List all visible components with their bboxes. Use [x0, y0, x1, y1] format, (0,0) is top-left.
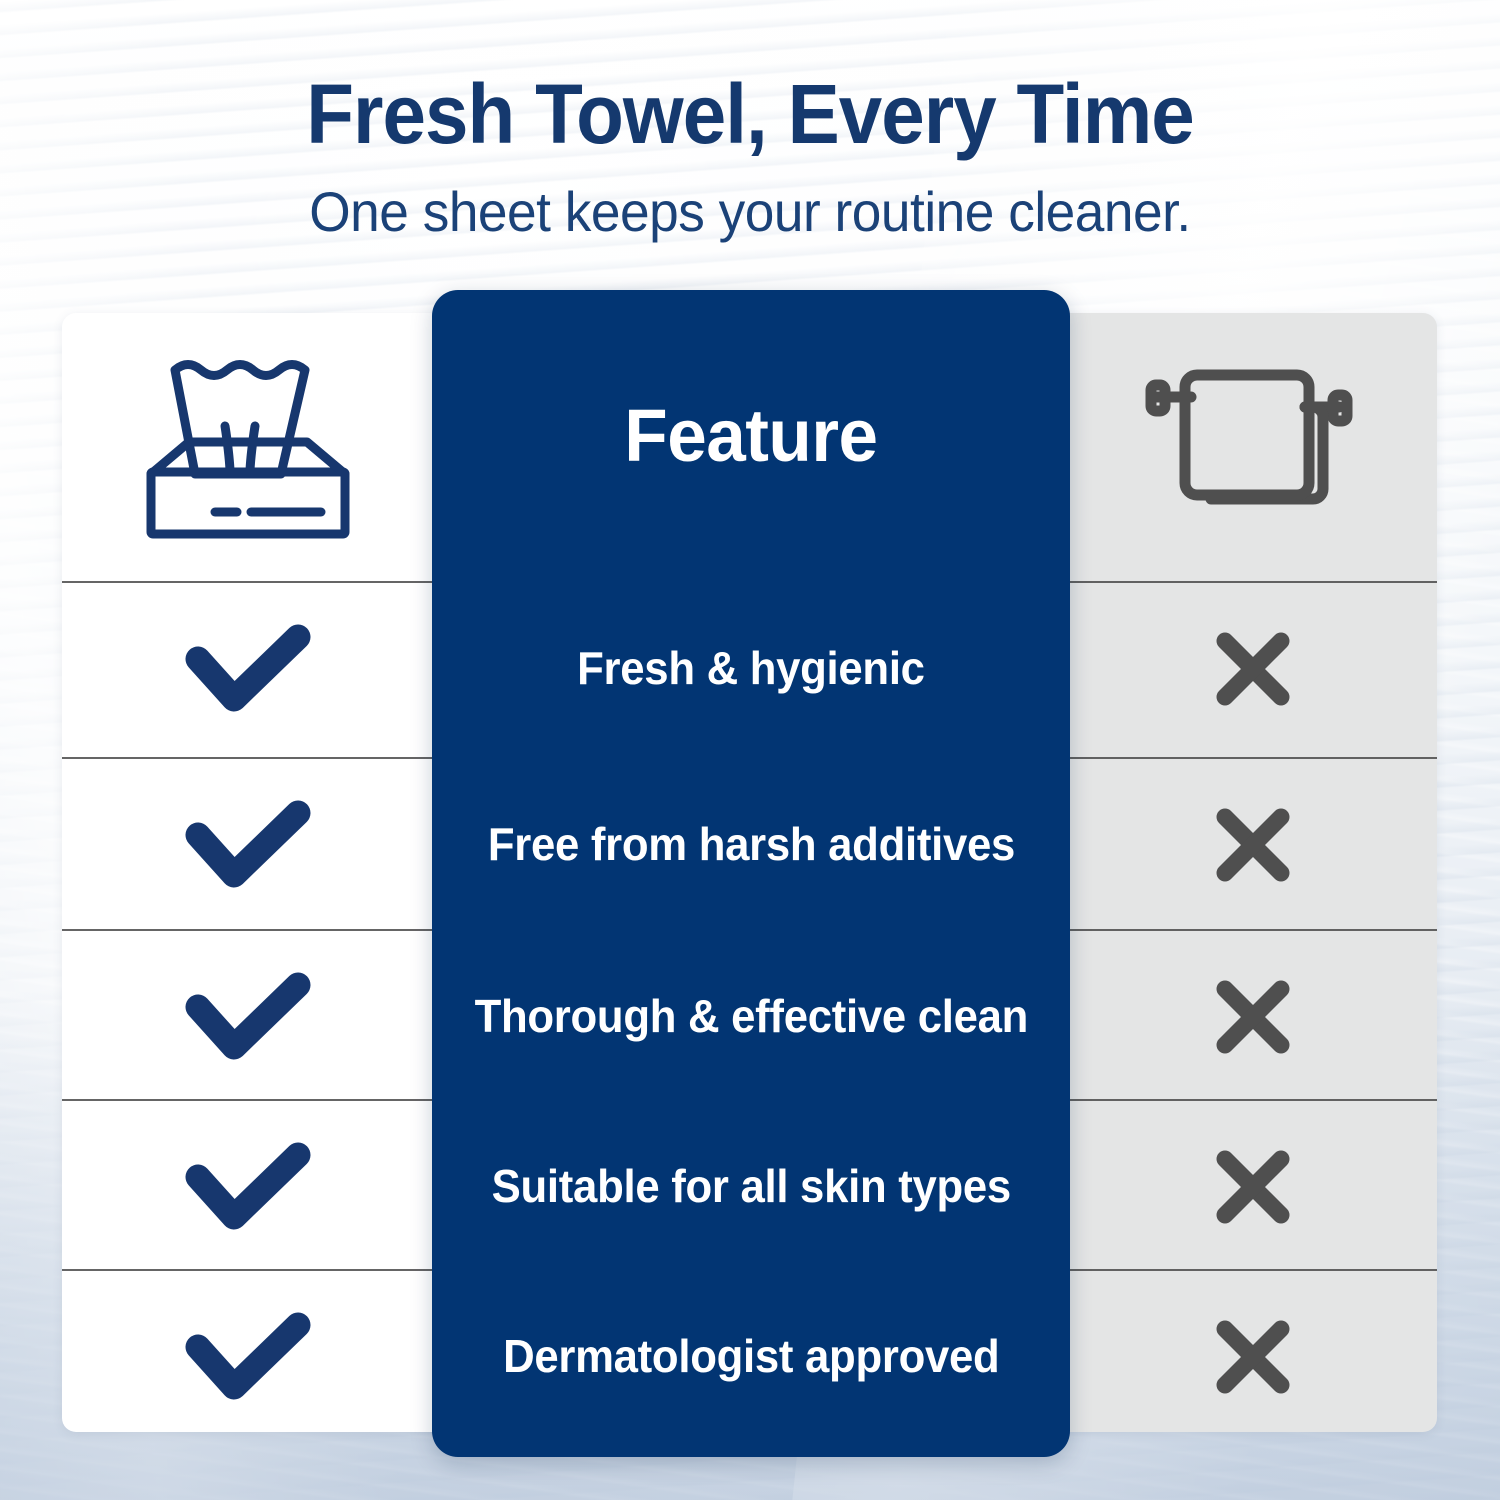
left-check-cell: [62, 582, 434, 755]
cross-icon: [1211, 627, 1295, 711]
feature-label: Fresh & hygienic: [577, 643, 925, 694]
right-cross-cell: [1068, 1270, 1437, 1443]
feature-row: Free from harsh additives: [432, 758, 1070, 931]
left-check-cell: [62, 1100, 434, 1273]
cross-icon: [1211, 1315, 1295, 1399]
feature-label: Free from harsh additives: [487, 819, 1014, 870]
checkmark-icon: [182, 969, 314, 1065]
feature-label: Thorough & effective clean: [474, 991, 1028, 1042]
tissue-box-icon: [133, 352, 363, 542]
left-check-cell: [62, 758, 434, 931]
comparison-table: Feature Fresh & hygienic Free from harsh…: [0, 0, 1500, 1500]
right-column-header-cell: [1068, 313, 1437, 581]
feature-row: Dermatologist approved: [432, 1270, 1070, 1443]
right-cross-cell: [1068, 930, 1437, 1103]
feature-row: Suitable for all skin types: [432, 1100, 1070, 1273]
cross-icon: [1211, 803, 1295, 887]
left-check-cell: [62, 930, 434, 1103]
cross-icon: [1211, 1145, 1295, 1229]
feature-column-header-label: Feature: [624, 393, 877, 478]
towel-on-rail-icon: [1145, 355, 1360, 540]
right-cross-cell: [1068, 758, 1437, 931]
feature-label: Dermatologist approved: [503, 1331, 999, 1382]
feature-column-header: Feature: [432, 290, 1070, 581]
checkmark-icon: [182, 621, 314, 717]
checkmark-icon: [182, 797, 314, 893]
left-column-header-cell: [62, 313, 434, 581]
checkmark-icon: [182, 1139, 314, 1235]
feature-row: Fresh & hygienic: [432, 582, 1070, 755]
feature-label: Suitable for all skin types: [491, 1161, 1010, 1212]
right-cross-cell: [1068, 582, 1437, 755]
right-cross-cell: [1068, 1100, 1437, 1273]
feature-row: Thorough & effective clean: [432, 930, 1070, 1103]
checkmark-icon: [182, 1309, 314, 1405]
feature-column-panel: Feature Fresh & hygienic Free from harsh…: [432, 290, 1070, 1457]
left-check-cell: [62, 1270, 434, 1443]
cross-icon: [1211, 975, 1295, 1059]
